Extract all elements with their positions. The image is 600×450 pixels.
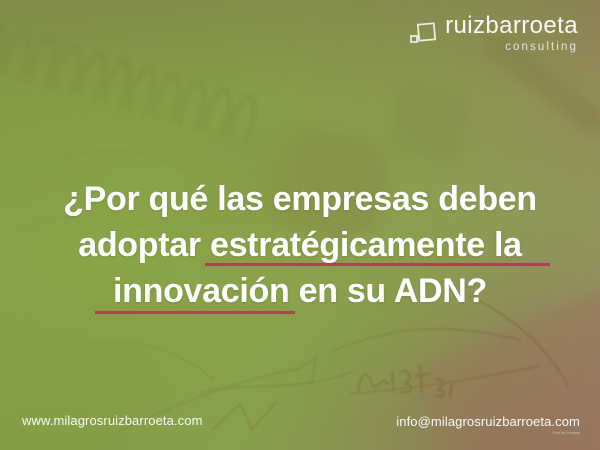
blog-header-banner: ruizbarroeta consulting ¿Por qué las emp… [0,0,600,450]
page-title: ¿Por qué las empresas deben adoptar estr… [0,176,600,314]
logo-subtitle: consulting [505,42,578,54]
two-squares-icon [410,21,436,47]
headline-line-2: adoptar estratégicamente la [14,222,586,268]
logo-wordmark: ruizbarroeta consulting [445,14,578,54]
website-url[interactable]: www.milagrosruizbarroeta.com [22,413,203,428]
contact-block: info@milagrosruizbarroeta.com Foto de Pi… [396,414,580,436]
headline-underline-1 [205,263,550,266]
brand-logo[interactable]: ruizbarroeta consulting [410,14,578,54]
contact-email[interactable]: info@milagrosruizbarroeta.com [396,414,580,429]
headline-line-1: ¿Por qué las empresas deben [14,176,586,222]
logo-name: ruizbarroeta [445,14,578,38]
photo-credit: Foto de Pixabay [396,431,580,436]
headline-underline-2 [95,311,295,314]
headline-line-3: innovación en su ADN? [14,268,586,314]
